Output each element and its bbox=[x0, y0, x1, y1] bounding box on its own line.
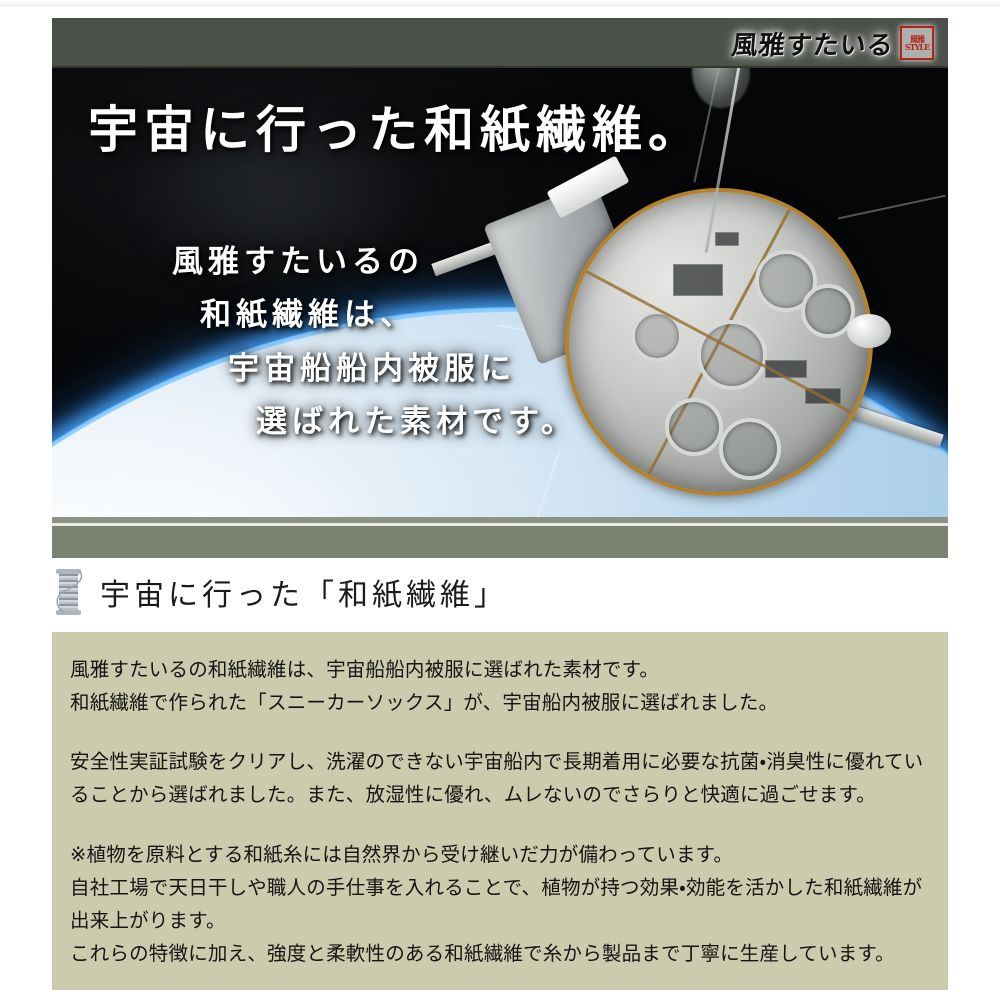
telescope-aft-bulkhead bbox=[565, 188, 873, 496]
spool-thread-icon bbox=[53, 569, 86, 615]
hero-banner: 宇宙に行った和紙繊維。 風雅すたいるの 和紙繊維は、 宇宙船船内被服に 選ばれた… bbox=[52, 18, 948, 558]
top-divider bbox=[0, 0, 1000, 6]
thread-spool-icon bbox=[52, 569, 86, 615]
hero-subtitle-line-2: 和紙繊維は、 bbox=[200, 289, 577, 342]
paragraph-1: 風雅すたいるの和紙繊維は、宇宙船船内被服に選ばれた素材です。和紙繊維で作られた「… bbox=[70, 654, 930, 720]
bulkhead-panel bbox=[673, 264, 723, 296]
section-heading: 宇宙に行った「和紙繊維」 bbox=[52, 566, 508, 618]
seal-line-2: STYLE bbox=[905, 43, 929, 51]
hero-headline: 宇宙に行った和紙繊維。 bbox=[88, 90, 704, 162]
banner-bottom-bar bbox=[52, 523, 948, 558]
hero-subtitle-line-1: 風雅すたいるの bbox=[172, 236, 577, 289]
brand-logo[interactable]: 風雅すたいる 風雅 STYLE bbox=[732, 22, 934, 64]
bulkhead-panel bbox=[715, 232, 739, 246]
bulkhead-fitting bbox=[631, 310, 683, 362]
paragraph-2: 安全性実証試験をクリアし、洗濯のできない宇宙船内で長期着用に必要な抗菌・消臭性に… bbox=[70, 746, 930, 812]
bulkhead-panel bbox=[765, 360, 807, 378]
content-box: 風雅すたいるの和紙繊維は、宇宙船船内被服に選ばれた素材です。和紙繊維で作られた「… bbox=[52, 632, 948, 990]
brand-name: 風雅すたいる bbox=[730, 25, 896, 62]
hero-subtitle-line-3: 宇宙船船内被服に bbox=[228, 343, 577, 396]
section-heading-text: 宇宙に行った「和紙繊維」 bbox=[100, 570, 508, 614]
bulkhead-fitting bbox=[665, 398, 723, 456]
brand-seal-icon: 風雅 STYLE bbox=[900, 26, 934, 60]
paragraph-3: ※植物を原料とする和紙糸には自然界から受け継いだ力が備わっています。自社工場で天… bbox=[70, 839, 930, 972]
bulkhead-fitting bbox=[697, 320, 767, 390]
hero-subtitle-line-4: 選ばれた素材です。 bbox=[256, 396, 577, 449]
page-root: 宇宙に行った和紙繊維。 風雅すたいるの 和紙繊維は、 宇宙船船内被服に 選ばれた… bbox=[0, 0, 1000, 1000]
high-gain-antenna-dish bbox=[847, 314, 891, 348]
bulkhead-fitting bbox=[719, 418, 781, 480]
hero-subtitle: 風雅すたいるの 和紙繊維は、 宇宙船船内被服に 選ばれた素材です。 bbox=[172, 236, 577, 449]
bulkhead-panel bbox=[805, 388, 841, 404]
